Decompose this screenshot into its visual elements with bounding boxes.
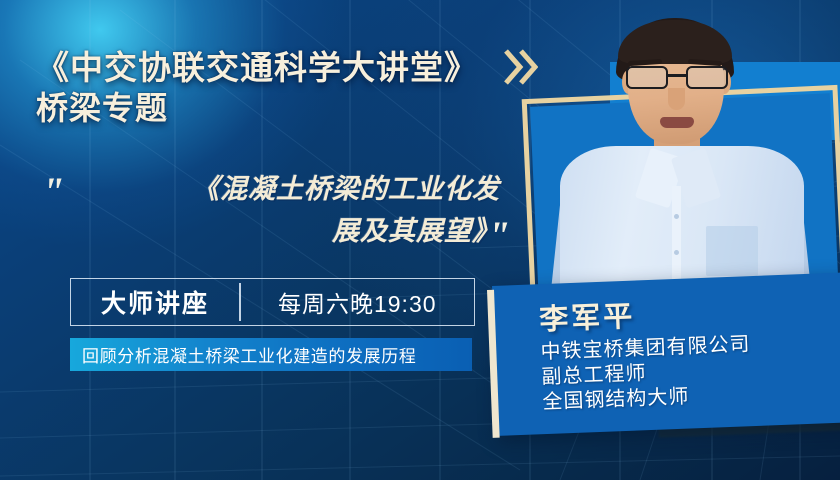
title-line-2: 桥梁专题 [36,88,556,128]
lecture-info-box: 大师讲座 每周六晚19:30 [70,278,475,326]
quote-open-mark: " [42,172,64,212]
portrait-shirt-button [674,250,679,255]
glasses-icon [626,66,728,90]
lecture-description-bar: 回顾分析混凝土桥梁工业化建造的发展历程 [70,338,472,371]
quote-line-2: 展及其展望》 [90,210,500,252]
title-line-1: 《中交协联交通科学大讲堂》 [36,48,556,88]
portrait-shirt-pocket [706,226,758,276]
quote-close-mark: " [488,216,510,256]
portrait-nose [668,88,685,110]
page-title: 《中交协联交通科学大讲堂》 桥梁专题 [36,48,556,128]
portrait-mouth [660,117,694,128]
speaker-info-text: 李军平 中铁宝桥集团有限公司 副总工程师 全国钢结构大师 [500,273,840,438]
lecture-schedule: 每周六晚19:30 [241,285,475,319]
speaker-portrait [556,18,808,318]
lecture-type-label: 大师讲座 [71,284,239,320]
portrait-hair-front [618,20,732,64]
quote-line-1: 《混凝土桥梁的工业化发 [90,168,500,210]
quote-text: 《混凝土桥梁的工业化发 展及其展望》 [90,168,500,252]
lecture-description-text: 回顾分析混凝土桥梁工业化建造的发展历程 [82,342,416,367]
poster-canvas: 《中交协联交通科学大讲堂》 桥梁专题 " 《混凝土桥梁的工业化发 展及其展望》 … [0,0,840,480]
portrait-shirt-button [674,214,679,219]
